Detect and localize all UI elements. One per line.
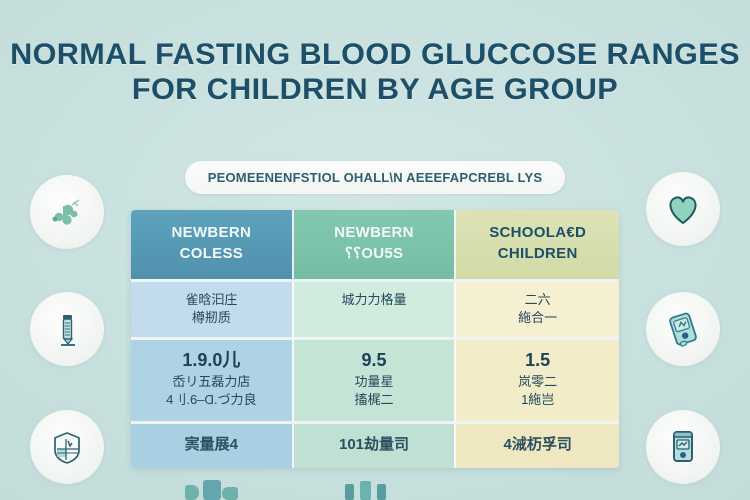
molecule-icon	[47, 192, 87, 232]
table-header-row: NEWBERN COLESS NEWBERN ⸮⸮OU5S SCHOOLA€D …	[131, 210, 619, 279]
cell-line: 雀晗汩庄	[137, 291, 286, 309]
table-header-cell-newborn-ou5s: NEWBERN ⸮⸮OU5S	[294, 210, 457, 279]
table-cell: 1.5 岚零二 1絁岂	[456, 340, 619, 420]
table-header-cell-school-aged-children: SCHOOLA€D CHILDREN	[456, 210, 619, 279]
cell-value: 9.5	[300, 349, 449, 372]
header-2-line-2: ⸮⸮OU5S	[300, 244, 449, 265]
table-row: 1.9.0儿 岙リ五磊力店 4刂.6–Ɑ.づ力良 9.5 功量星 搐梶二 1.5…	[131, 340, 619, 420]
glucose-ranges-table: NEWBERN COLESS NEWBERN ⸮⸮OU5S SCHOOLA€D …	[131, 210, 619, 468]
cell-value: 1.9.0儿	[137, 349, 286, 372]
medical-shield-chart-icon-badge	[30, 410, 104, 484]
infographic-poster: NORMAL FASTING BLOOD GLUCCOSE RANGES FOR…	[0, 0, 750, 500]
table-cell: 4㳦杤孚司	[456, 424, 619, 469]
cell-line: 4刂.6–Ɑ.づ力良	[137, 391, 286, 409]
glucose-meter-icon	[662, 308, 704, 350]
glucometer-device-icon	[662, 426, 704, 468]
decorative-shape	[377, 484, 386, 500]
header-2-line-1: NEWBERN	[300, 223, 449, 244]
table-header-cell-newborn-coless: NEWBERN COLESS	[131, 210, 294, 279]
title-line-1: NORMAL FASTING BLOOD GLUCCOSE RANGES	[0, 38, 750, 73]
syringe-icon	[47, 309, 87, 349]
header-3-line-1: SCHOOLA€D	[462, 223, 613, 244]
cell-line: 101劫量司	[300, 435, 449, 456]
table-row: 㝙量展4 101劫量司 4㳦杤孚司	[131, 424, 619, 469]
table-row: 雀晗汩庄 樽剏质 城力力格量 二六 絁合一	[131, 282, 619, 337]
cell-line: 㝙量展4	[137, 435, 286, 456]
poster-title: NORMAL FASTING BLOOD GLUCCOSE RANGES FOR…	[0, 38, 750, 108]
title-line-2: FOR CHILDREN BY AGE GROUP	[0, 73, 750, 108]
decorative-shape	[345, 484, 354, 500]
cell-line: 4㳦杤孚司	[462, 435, 613, 456]
table-cell: 9.5 功量星 搐梶二	[294, 340, 457, 420]
cell-line: 樽剏质	[137, 309, 286, 327]
syringe-icon-badge	[30, 292, 104, 366]
molecule-icon-badge	[30, 175, 104, 249]
heart-icon	[662, 188, 704, 230]
glucose-meter-icon-badge	[646, 292, 720, 366]
heart-icon-badge	[646, 172, 720, 246]
glucometer-device-icon-badge	[646, 410, 720, 484]
table-cell: 㝙量展4	[131, 424, 294, 469]
bottom-decorative-shapes	[0, 478, 750, 500]
cell-line: 城力力格量	[300, 291, 449, 309]
decorative-shape	[185, 485, 199, 500]
decorative-shape	[360, 481, 371, 500]
decorative-shape	[203, 480, 221, 500]
table-cell: 1.9.0儿 岙リ五磊力店 4刂.6–Ɑ.づ力良	[131, 340, 294, 420]
cell-line: 岚零二	[462, 373, 613, 391]
subtitle-pill: PEOMEENENFSTIOL OHALL\N AEEEFAPCREBL LYS	[185, 161, 565, 194]
medical-shield-chart-icon	[47, 427, 87, 467]
table-cell: 二六 絁合一	[456, 282, 619, 337]
table-cell: 城力力格量	[294, 282, 457, 337]
subtitle-text: PEOMEENENFSTIOL OHALL\N AEEEFAPCREBL LYS	[208, 170, 543, 185]
cell-line: 絁合一	[462, 309, 613, 327]
header-3-line-2: CHILDREN	[462, 244, 613, 265]
cell-value: 1.5	[462, 349, 613, 372]
table-cell: 101劫量司	[294, 424, 457, 469]
decorative-shape	[222, 487, 238, 500]
header-1-line-1: NEWBERN	[137, 223, 286, 244]
header-1-line-2: COLESS	[137, 244, 286, 265]
cell-line: 功量星	[300, 373, 449, 391]
cell-line: 1絁岂	[462, 391, 613, 409]
table-cell: 雀晗汩庄 樽剏质	[131, 282, 294, 337]
cell-line: 岙リ五磊力店	[137, 373, 286, 391]
cell-line: 二六	[462, 291, 613, 309]
cell-line: 搐梶二	[300, 391, 449, 409]
